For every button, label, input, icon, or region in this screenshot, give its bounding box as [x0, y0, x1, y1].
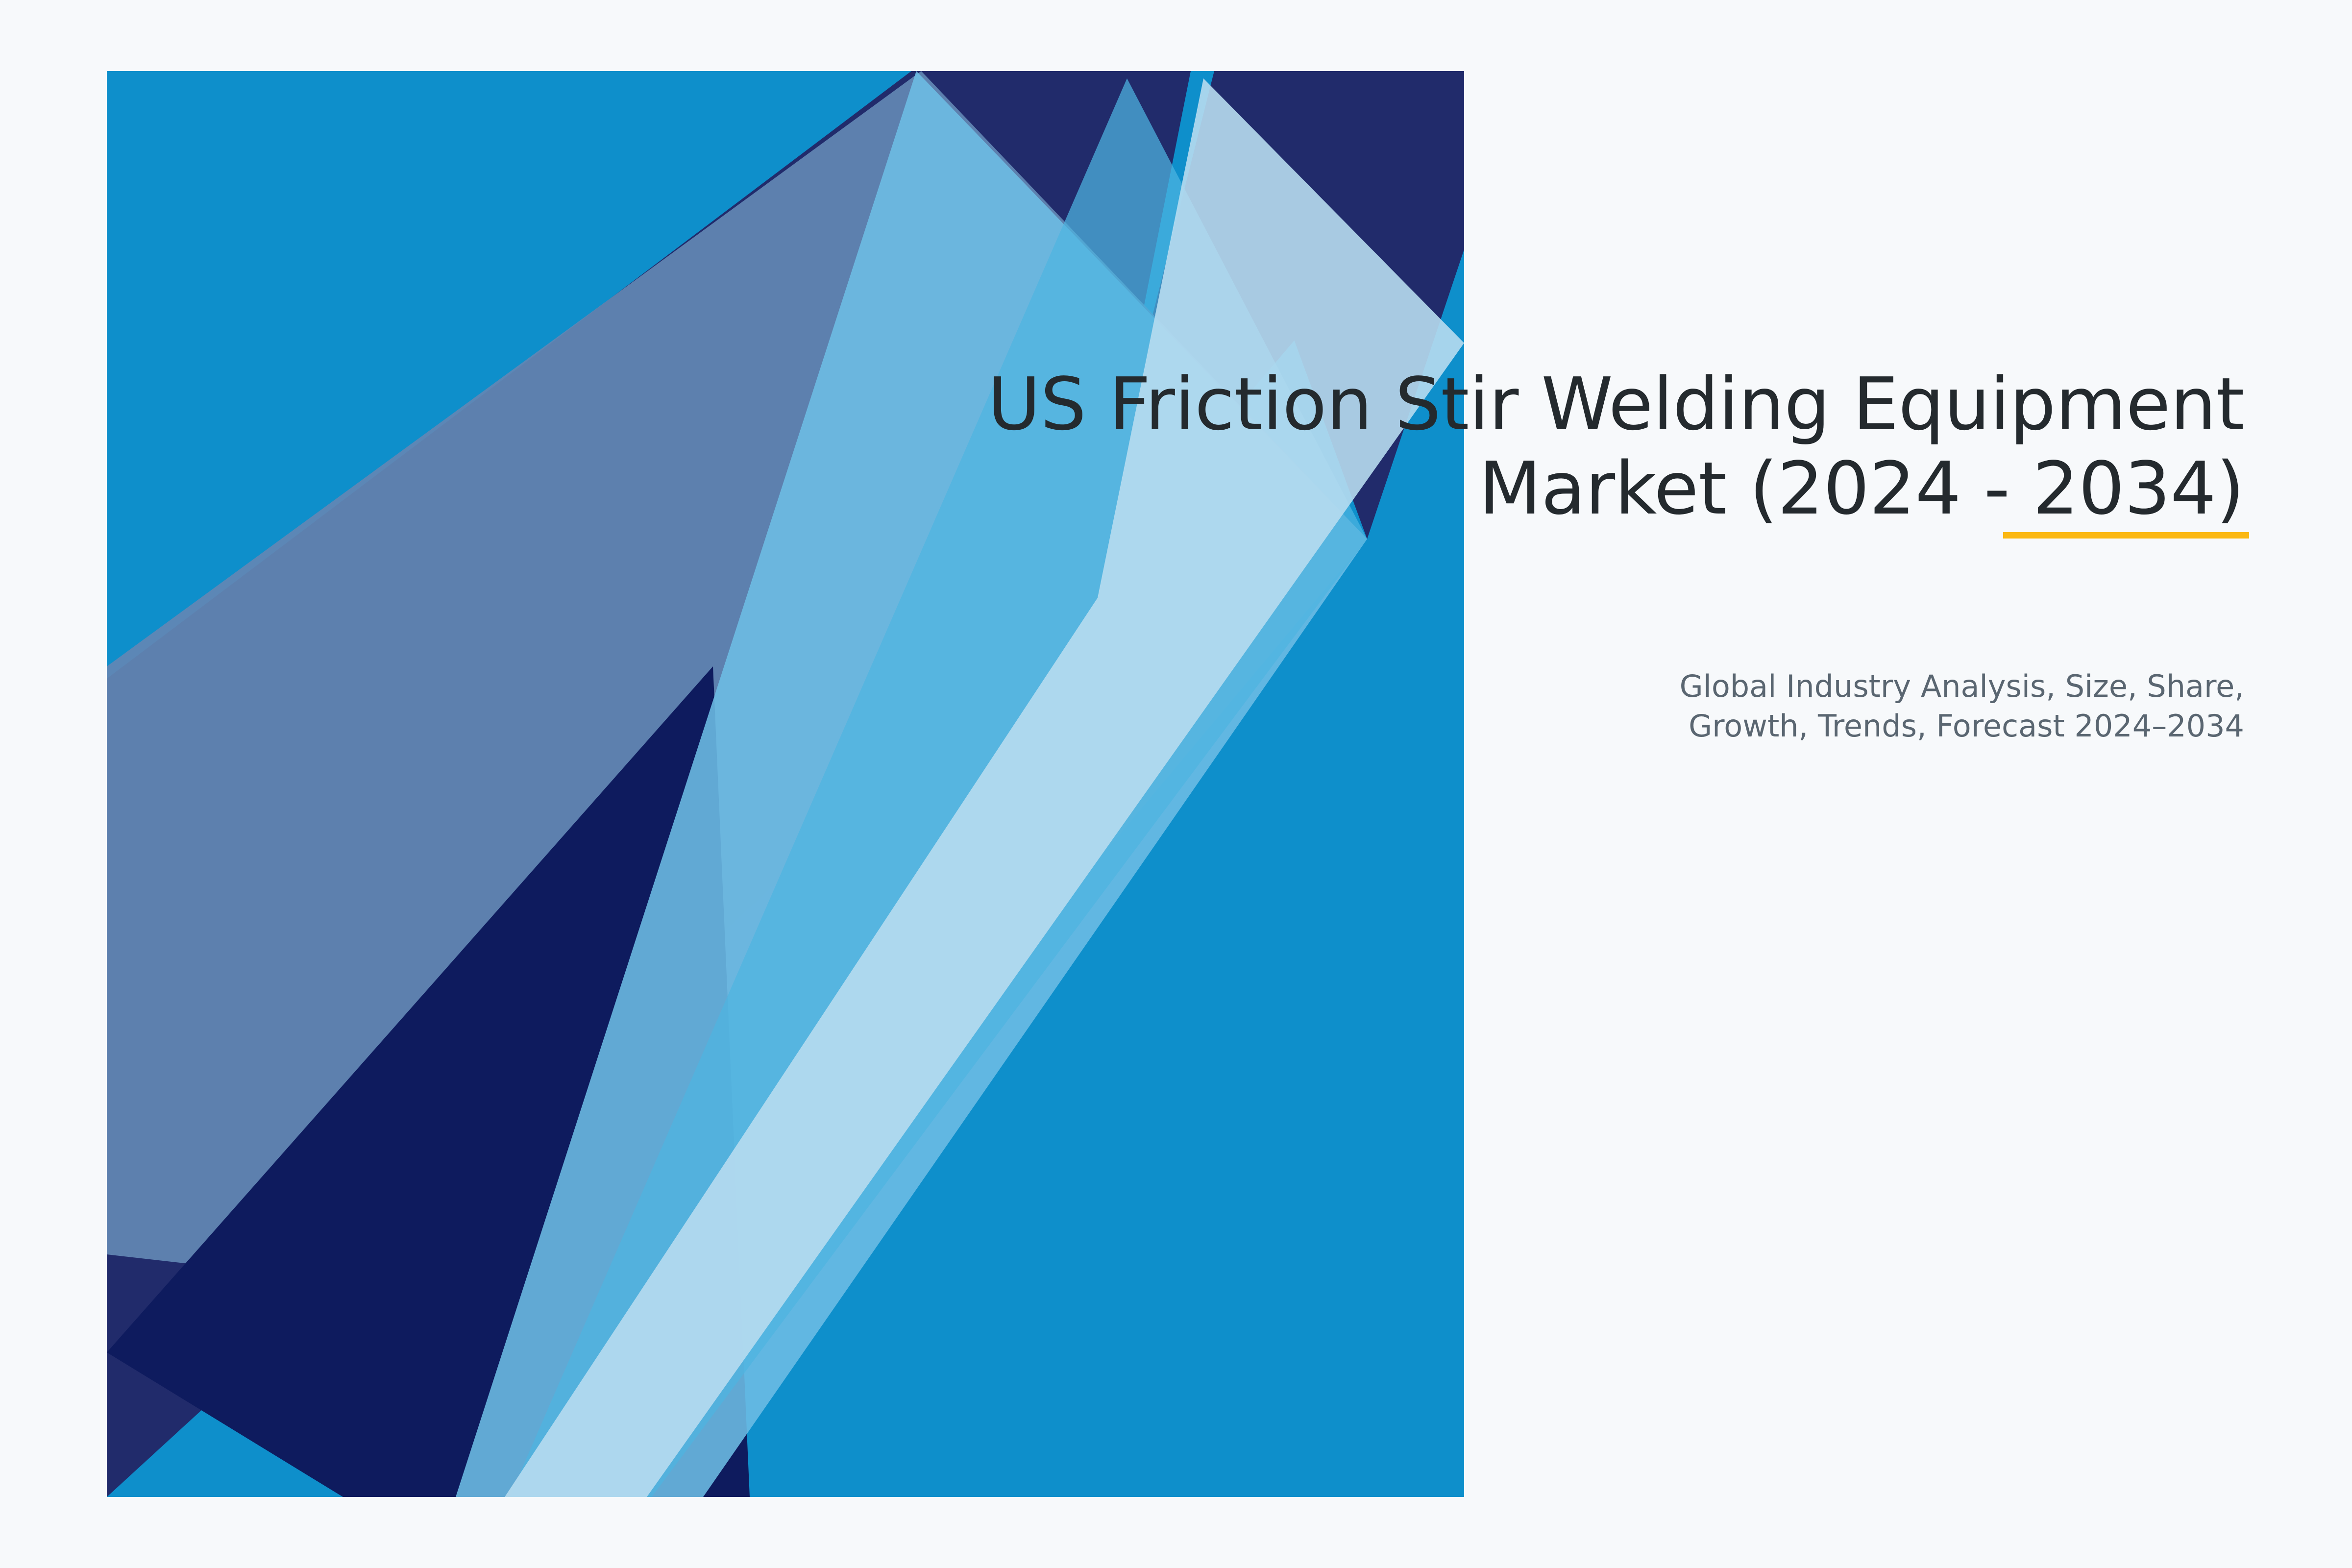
- shape-pale-blue-sheet: [505, 78, 1464, 1497]
- shape-navy-wedge: [107, 71, 1524, 1497]
- page-title-line-2: Market (2024 - 2034): [833, 447, 2244, 531]
- page-title-line-1: US Friction Stir Welding Equipment: [833, 363, 2244, 447]
- page-subtitle-line-2: Growth, Trends, Forecast 2024–2034: [833, 707, 2244, 746]
- shape-sky-blue-band: [510, 78, 1367, 1497]
- report-cover-page: US Friction Stir Welding Equipment Marke…: [0, 0, 2352, 1568]
- page-title: US Friction Stir Welding Equipment Marke…: [833, 363, 2244, 531]
- page-subtitle: Global Industry Analysis, Size, Share, G…: [833, 531, 2244, 746]
- abstract-geometric-cover-graphic: [0, 0, 2352, 1568]
- cover-text-block: US Friction Stir Welding Equipment Marke…: [833, 363, 2244, 746]
- shape-mid-cyan-band: [456, 71, 1367, 1497]
- page-subtitle-line-1: Global Industry Analysis, Size, Share,: [833, 667, 2244, 707]
- shape-pale-blue-upper: [1225, 71, 1464, 349]
- shape-cyan-base: [107, 71, 1464, 1497]
- shape-dark-navy-spike: [107, 666, 750, 1497]
